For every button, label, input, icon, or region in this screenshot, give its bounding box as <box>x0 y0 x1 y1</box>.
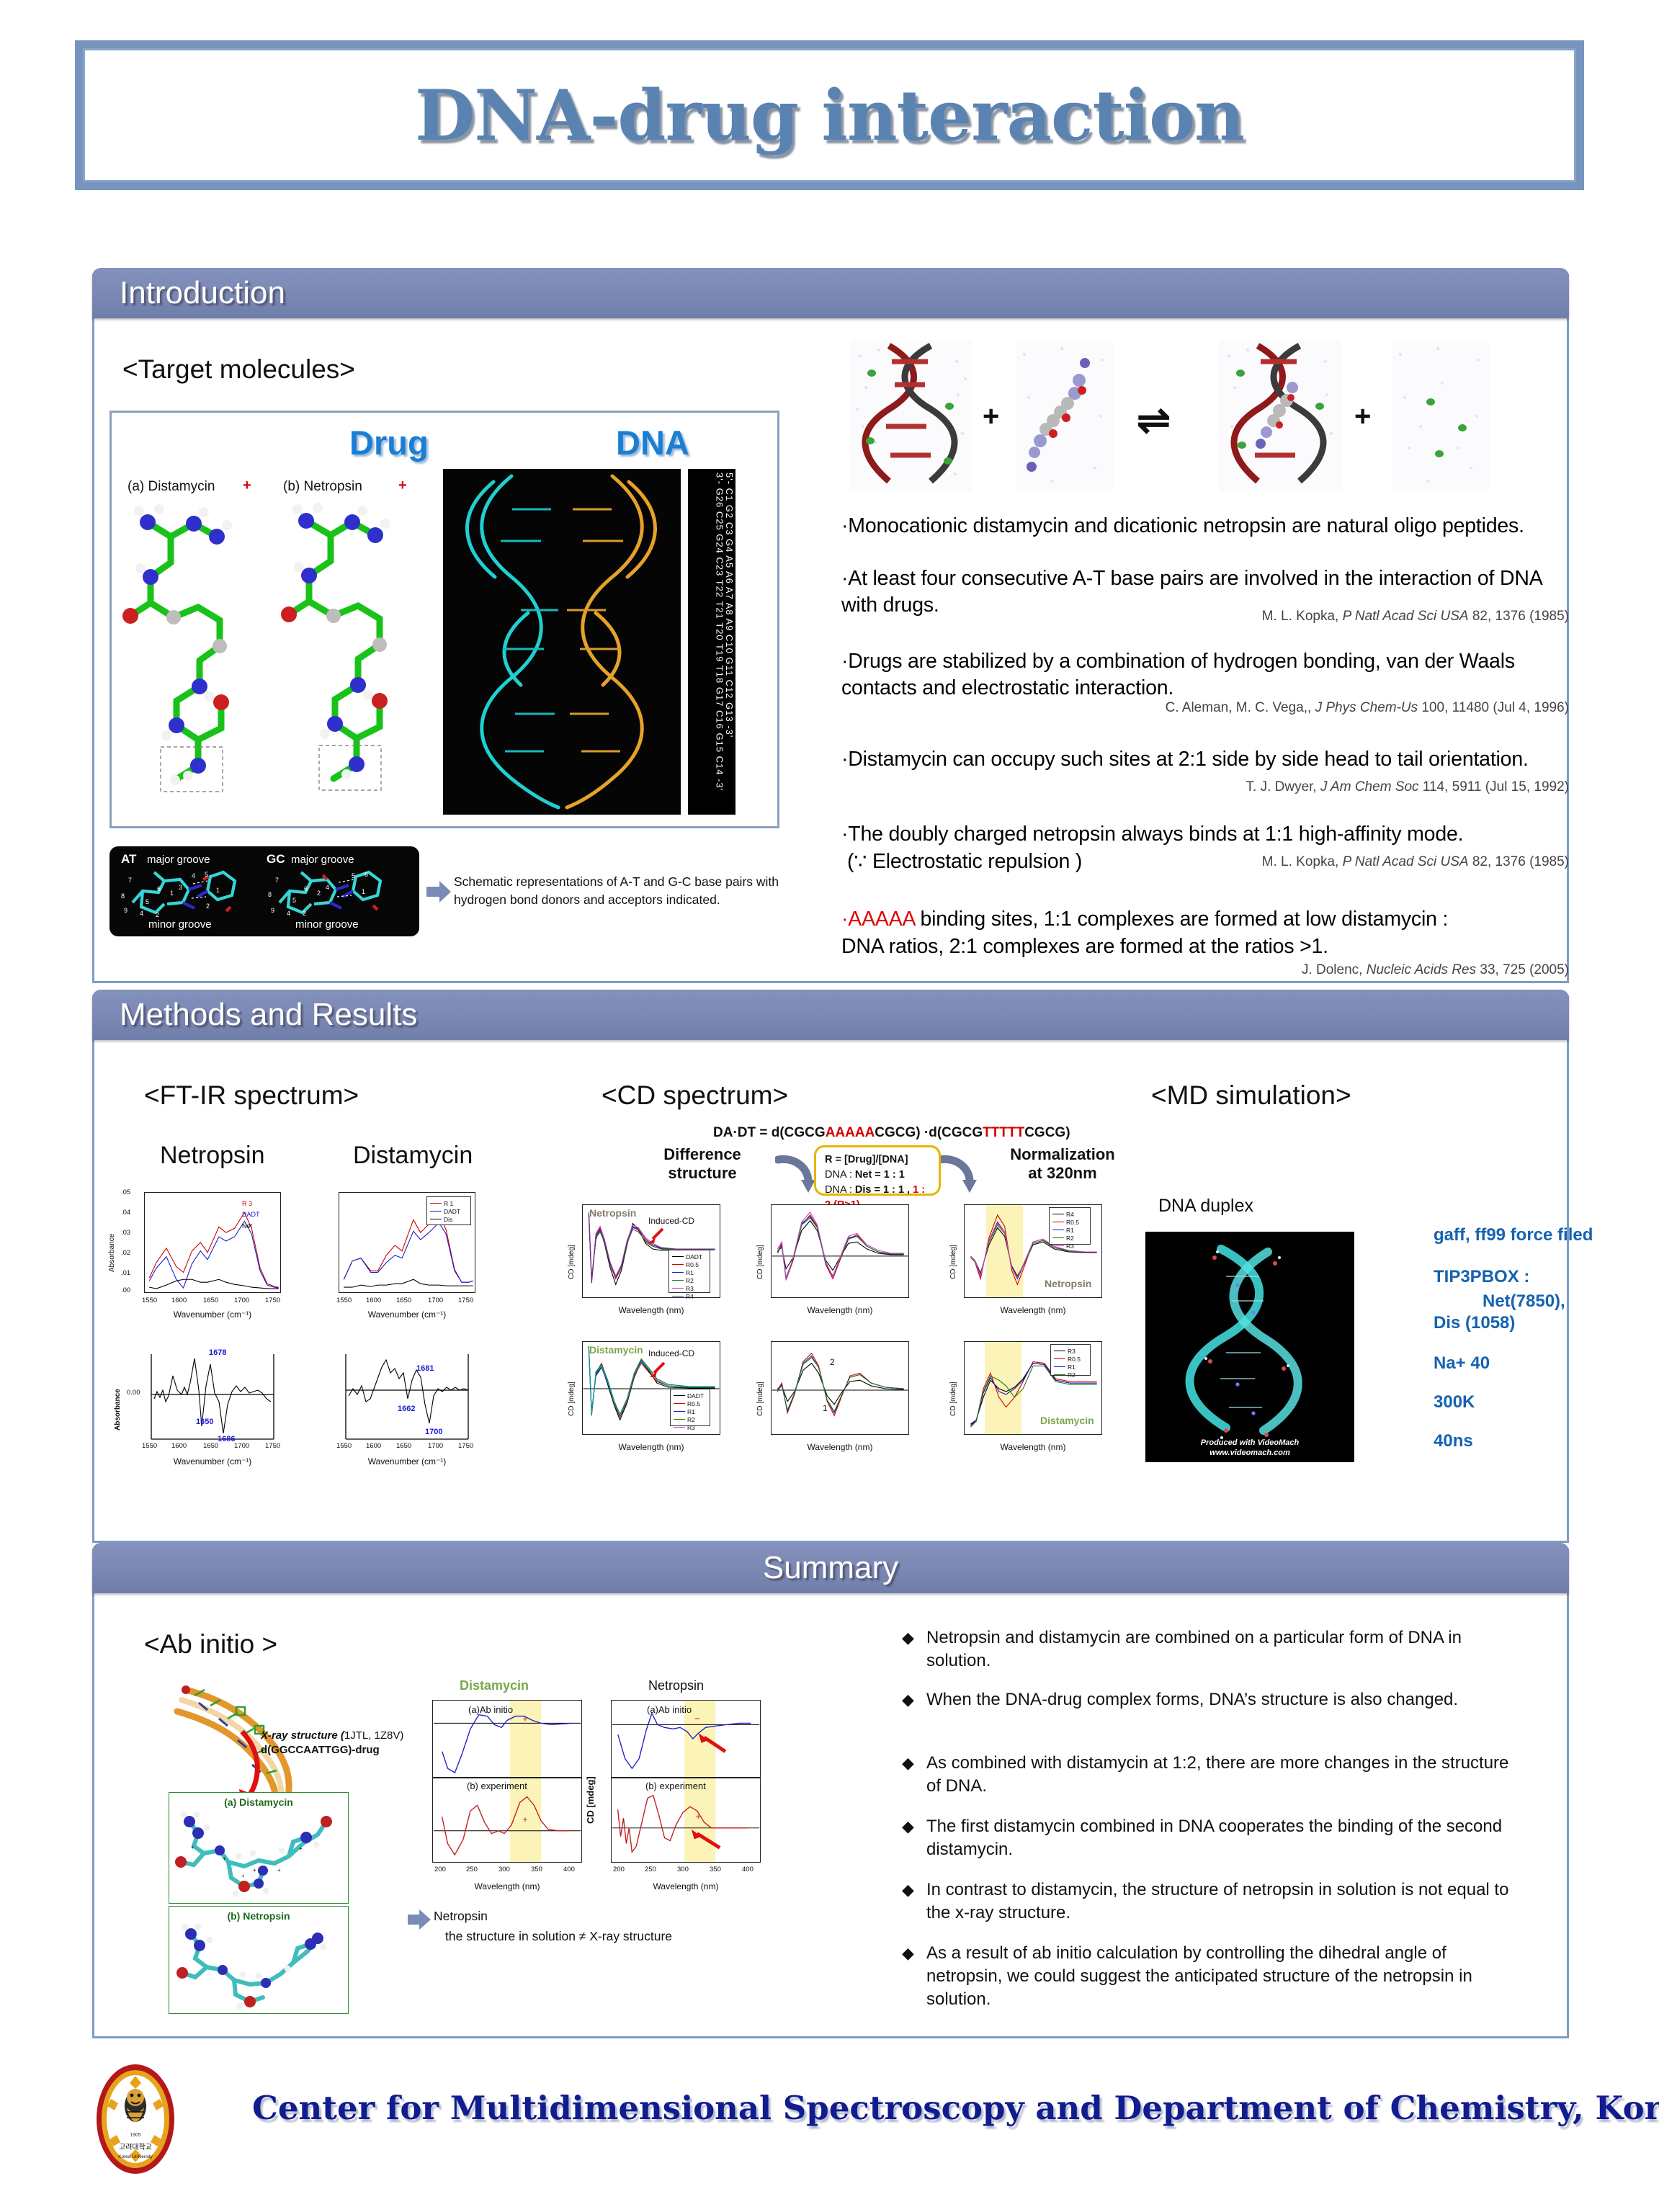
label-minor-groove-at: minor groove <box>148 918 212 931</box>
ftir-net-peak-1650: 1650 <box>196 1418 213 1426</box>
intro-bullet-6b: DNA ratios, 2:1 complexes are formed at … <box>841 933 1568 960</box>
abinitio-dis-xtick-200: 200 <box>434 1866 446 1873</box>
cd-leg-r4: R4 <box>686 1293 694 1300</box>
ftir-net-peak-1678: 1678 <box>209 1348 226 1357</box>
svg-text:6: 6 <box>365 871 368 878</box>
base-pair-caption: Schematic representations of A-T and G-C… <box>454 873 785 910</box>
md-param-tip3pbox: TIP3PBOX : <box>1434 1266 1529 1288</box>
rbox-line1: R = [Drug]/[DNA] <box>825 1152 930 1168</box>
ftir-net-xtick-1550: 1550 <box>142 1297 157 1304</box>
ftir-net-ytick-04: .04 <box>121 1209 130 1217</box>
md-param-forcefield: gaff, ff99 force filed <box>1434 1224 1593 1246</box>
cd-distamycin-legend: DADT R0.5 R1 R2 R3 <box>670 1389 710 1426</box>
formula-pre: DA·DT = d(CGCG <box>713 1125 826 1140</box>
product-complex-image <box>1219 340 1341 491</box>
ftir-net-diff-xtick-1750: 1750 <box>265 1442 280 1450</box>
ref-journal-6: Nucleic Acids Res <box>1367 962 1476 977</box>
svg-text:5: 5 <box>146 898 149 905</box>
summary-bullet-6-text: As a result of ab initio calculation by … <box>926 1943 1472 2009</box>
label-ftir-netropsin: Netropsin <box>160 1142 265 1170</box>
abinitio-net-xtick-300: 300 <box>677 1866 689 1873</box>
red-arrow-icon-1 <box>647 1227 666 1245</box>
svg-text:+: + <box>523 1714 528 1724</box>
abinitio-ylabel: CD [mdeg] <box>585 1745 596 1824</box>
ftir-dis-legend-r1: R 1 <box>444 1200 453 1207</box>
poster-title-inner: DNA-drug interaction <box>83 48 1576 182</box>
ftir-net-legend-dadt: DADT <box>242 1209 260 1220</box>
svg-text:1: 1 <box>216 887 220 894</box>
summary-bullet-3: ◆ As combined with distamycin at 1:2, th… <box>926 1752 1524 1798</box>
ftir-dis-diff-xtick-1750: 1750 <box>458 1442 473 1450</box>
rbox-line2: DNA : Net = 1 : 1 <box>825 1168 930 1183</box>
footer-affiliation: Center for Multidimensional Spectroscopy… <box>252 2089 1549 2127</box>
chart-ftir-netropsin-diff <box>144 1354 281 1451</box>
ftir-net-diff-zero: 0.00 <box>127 1389 140 1397</box>
ftir-net-diff-xtick-1550: 1550 <box>142 1442 157 1450</box>
legend-swatch-dadt-d <box>674 1395 685 1396</box>
ftir-dis-peak-1662: 1662 <box>398 1405 415 1413</box>
ftir-dis-diff-xtick-1650: 1650 <box>396 1442 411 1450</box>
ref-rest-6: 33, 725 (2005) <box>1476 962 1569 977</box>
ftir-net-ylabel: Absorbance <box>108 1214 116 1272</box>
ftir-net-peak-1686: 1686 <box>218 1435 235 1443</box>
md-simulation-render: Produced with VideoMach www.videomach.co… <box>1145 1232 1354 1462</box>
cd-leg-r3: R3 <box>686 1285 694 1292</box>
equilibrium-arrow-icon: ⇌ <box>1137 396 1171 444</box>
intro-ref-2: M. L. Kopka, P Natl Acad Sci USA 82, 137… <box>1174 609 1569 624</box>
ref-journal-5: P Natl Acad Sci USA <box>1343 854 1469 869</box>
ref-author-4: T. J. Dwyer, <box>1246 779 1320 794</box>
ftir-net-xlabel: Wavenumber (cm⁻¹) <box>144 1309 281 1320</box>
section-title-introduction: Introduction <box>120 275 285 311</box>
legend-swatch-r3-d <box>674 1427 685 1428</box>
ref-rest-2: 82, 1376 (1985) <box>1469 609 1569 624</box>
cd-normalized-distamycin-legend: R3 R0.5 R1 R2 <box>1050 1344 1091 1376</box>
summary-bullet-6: ◆ As a result of ab initio calculation b… <box>926 1942 1524 2011</box>
ftir-dis-xtick-1650: 1650 <box>396 1297 411 1304</box>
cd-leg-r1: R1 <box>686 1269 694 1276</box>
formula-aaaaa: AAAAA <box>826 1125 875 1140</box>
svg-text:+: + <box>523 1815 528 1824</box>
cd-legd-r3: R3 <box>687 1424 695 1431</box>
svg-text:+: + <box>696 1812 701 1822</box>
xray-sequence: d(GGCCAATTGG)-drug <box>261 1744 380 1756</box>
subheading-cd: <CD spectrum> <box>602 1080 788 1111</box>
section-title-summary: Summary <box>763 1550 898 1586</box>
abinitio-dis-xtick-300: 300 <box>498 1866 510 1873</box>
label-major-groove-at: major groove <box>147 854 210 866</box>
reactant-drug-image <box>1016 340 1113 491</box>
cd-induced-label-2: Induced-CD <box>648 1348 694 1358</box>
legend-swatch-r1-nd <box>1054 1366 1065 1367</box>
label-drug: Drug <box>349 423 429 462</box>
ref-author-3: C. Aleman, M. C. Vega,, <box>1166 700 1315 715</box>
summary-bullet-4-text: The first distamycin combined in DNA coo… <box>926 1817 1502 1859</box>
curved-arrow-right-icon <box>936 1151 978 1194</box>
md-param-time: 40ns <box>1434 1430 1473 1452</box>
xray-title-rest: 1JTL, 1Z8V) <box>344 1729 404 1742</box>
poster-title-frame: DNA-drug interaction <box>75 40 1584 190</box>
ftir-dis-xtick-1550: 1550 <box>336 1297 352 1304</box>
legend-swatch-r4 <box>672 1296 684 1297</box>
cd-net-xlabel: Wavelength (nm) <box>582 1305 720 1315</box>
svg-text:2: 2 <box>303 910 306 917</box>
ftir-net-diff-ylabel: Absorbance <box>114 1369 122 1430</box>
cd-netropsin-legend: DADT R0.5 R1 R2 R3 R4 <box>668 1250 710 1293</box>
intro-bullet-5: ·The doubly charged netropsin always bin… <box>841 821 1568 848</box>
svg-text:1905: 1905 <box>130 2133 141 2138</box>
abinitio-distamycin-label: (a) Distamycin <box>169 1796 348 1808</box>
base-pair-molecules: 789 542 613 4512 789 542 624 561 <box>117 865 412 920</box>
cd-legb-r4: R4 <box>1066 1211 1074 1218</box>
svg-text:1: 1 <box>170 890 174 897</box>
abinitio-netropsin-label: (b) Netropsin <box>169 1910 348 1922</box>
abinitio-dis-xlabel: Wavelength (nm) <box>432 1881 582 1891</box>
cd-legc-r1: R1 <box>1068 1364 1076 1371</box>
svg-text:3: 3 <box>179 884 182 891</box>
ftir-net-xtick-1750: 1750 <box>265 1297 280 1304</box>
charge-distamycin: + <box>243 478 251 494</box>
legend-swatch-r3 <box>672 1288 684 1289</box>
legend-swatch-r05-d <box>674 1403 685 1404</box>
dna-sequence-bottom: 3'- G26 C25 G24 C23 T22 T21 T20 T19 T18 … <box>715 473 725 791</box>
intro-bullet-1: ·Monocationic distamycin and dicationic … <box>841 513 1568 539</box>
ref-rest-3: 100, 11480 (Jul 4, 1996) <box>1418 700 1569 715</box>
summary-bullet-1-text: Netropsin and distamycin are combined on… <box>926 1628 1462 1670</box>
svg-text:2: 2 <box>156 911 159 918</box>
arrow-right-icon <box>426 880 451 903</box>
ref-author-6: J. Dolenc, <box>1302 962 1367 977</box>
dna-sequence-strip: 5'- C1 G2 C3 G4 A5 A6 A7 A8 A9 C10 G11 C… <box>688 469 735 815</box>
cd-induced-label-1: Induced-CD <box>648 1216 694 1226</box>
xray-title-italic: X-ray structure ( <box>261 1729 344 1742</box>
section-title-methods: Methods and Results <box>120 997 417 1033</box>
cd-legd-r1: R1 <box>687 1408 695 1415</box>
legend-swatch-r3-n <box>1052 1245 1064 1246</box>
chart-ftir-distamycin-diff <box>339 1354 475 1451</box>
svg-text:6: 6 <box>157 885 161 892</box>
abinitio-panel-b-label-dis: (b) experiment <box>467 1781 527 1791</box>
abinitio-note-line2: the structure in solution ≠ X-ray struct… <box>445 1927 672 1945</box>
cd-legd-dadt: DADT <box>687 1392 704 1400</box>
cd-flow-left-label: Difference structure <box>634 1145 771 1183</box>
formula-post: CGCG) <box>1024 1125 1070 1140</box>
abinitio-net-xtick-200: 200 <box>613 1866 625 1873</box>
cd-mark-2: 2 <box>830 1357 835 1367</box>
rbox-l2-bold: Net <box>855 1169 872 1181</box>
svg-text:5: 5 <box>352 872 355 879</box>
ftir-net-ytick-02: .02 <box>121 1249 130 1257</box>
cd-normalized-netropsin-legend: R4 R0.5 R1 R2 R3 <box>1049 1207 1091 1245</box>
svg-text:4: 4 <box>287 910 290 917</box>
ftir-net-xtick-1700: 1700 <box>234 1297 249 1304</box>
cd-legc-r3: R3 <box>1068 1348 1076 1355</box>
formula-mid: CGCG) ·d(CGCG <box>875 1125 983 1140</box>
label-dna: DNA <box>616 423 689 462</box>
md-param-dis: Dis (1058) <box>1434 1312 1515 1334</box>
legend-swatch-r05 <box>672 1264 684 1265</box>
rbox-l2-pre: DNA : <box>825 1169 855 1181</box>
summary-bullet-3-text: As combined with distamycin at 1:2, ther… <box>926 1753 1508 1796</box>
arrow-right-icon-2 <box>408 1909 431 1930</box>
korea-university-logo: 1905 고려대학교 Korea University <box>92 2061 179 2177</box>
svg-text:−: − <box>694 1713 700 1724</box>
rbox-l3-pre: DNA : <box>825 1184 855 1196</box>
subheading-md: <MD simulation> <box>1151 1080 1351 1111</box>
intro-bullet-6-text: binding sites, 1:1 complexes are formed … <box>915 908 1448 931</box>
svg-text:+: + <box>299 1845 303 1852</box>
ftir-dis-legend-dis: Dis <box>444 1216 452 1223</box>
ftir-dis-xtick-1600: 1600 <box>366 1297 381 1304</box>
cd-sequence-formula: DA·DT = d(CGCGAAAAACGCG) ·d(CGCGTTTTTCGC… <box>713 1125 1070 1141</box>
summary-bullet-5: ◆ In contrast to distamycin, the structu… <box>926 1879 1524 1925</box>
svg-text:5: 5 <box>292 897 296 904</box>
ftir-dis-peak-1681: 1681 <box>416 1364 434 1373</box>
bullet-marker-4: ◆ <box>902 1816 914 1837</box>
subheading-abinitio: <Ab initio > <box>144 1629 277 1660</box>
label-ftir-distamycin: Distamycin <box>353 1142 473 1170</box>
md-param-net: Net(7850), <box>1483 1291 1565 1312</box>
bullet-marker-1: ◆ <box>902 1627 914 1648</box>
ftir-dis-diff-xtick-1700: 1700 <box>428 1442 443 1450</box>
rbox-l2-post: = 1 : 1 <box>872 1169 905 1181</box>
xray-structure-caption: X-ray structure (1JTL, 1Z8V) d(GGCCAATTG… <box>261 1729 426 1758</box>
ref-author-5: M. L. Kopka, <box>1262 854 1343 869</box>
cd-dismid-xlabel: Wavelength (nm) <box>771 1442 909 1452</box>
abinitio-dis-xtick-250: 250 <box>466 1866 478 1873</box>
svg-text:2: 2 <box>206 903 210 910</box>
rbox-l3-bold: Dis <box>855 1184 872 1196</box>
cd-panel-label-distamycin-norm: Distamycin <box>1040 1415 1094 1426</box>
cd-norm-xlabel: Wavelength (nm) <box>964 1305 1102 1315</box>
legend-swatch-r1 <box>430 1203 442 1204</box>
cd-mid-xlabel: Wavelength (nm) <box>771 1305 909 1315</box>
page-title: DNA-drug interaction <box>415 75 1244 156</box>
cd-dis-xlabel: Wavelength (nm) <box>582 1442 720 1452</box>
svg-text:4: 4 <box>192 872 195 879</box>
cd-mark-1: 1 <box>823 1403 828 1413</box>
summary-bullet-5-text: In contrast to distamycin, the structure… <box>926 1880 1508 1922</box>
summary-bullet-2-text: When the DNA-drug complex forms, DNA’s s… <box>926 1690 1458 1709</box>
label-major-groove-gc: major groove <box>291 854 354 866</box>
abinitio-netropsin-box: (b) Netropsin <box>169 1906 349 2014</box>
md-param-na: Na+ 40 <box>1434 1353 1490 1374</box>
cd-leg-r05: R0.5 <box>686 1261 699 1268</box>
bullet-marker-3: ◆ <box>902 1752 914 1773</box>
legend-swatch-r2-n <box>1052 1237 1064 1238</box>
cd-legd-r05: R0.5 <box>687 1400 700 1407</box>
svg-text:8: 8 <box>268 891 272 898</box>
legend-swatch-r2 <box>672 1280 684 1281</box>
svg-text:+: + <box>191 1844 194 1850</box>
plus-sign-1: + <box>983 400 999 433</box>
distamycin-structure-image <box>119 493 274 803</box>
cd-mid-ylabel: CD [mdeg] <box>756 1224 764 1279</box>
svg-text:9: 9 <box>124 907 128 914</box>
ftir-net-diff-xtick-1600: 1600 <box>171 1442 187 1450</box>
cd-dis-ylabel: CD [mdeg] <box>568 1361 576 1416</box>
cd-legb-r2: R2 <box>1066 1235 1074 1242</box>
intro-bullet-3: ·Drugs are stabilized by a combination o… <box>841 648 1568 702</box>
subheading-ftir: <FT-IR spectrum> <box>144 1080 359 1111</box>
formula-ttttt: TTTTT <box>983 1125 1024 1140</box>
ftir-dis-legend: R 1 DADT Dis <box>426 1196 471 1225</box>
rbox-l3-post: = 1 : 1 , <box>871 1184 913 1196</box>
ftir-net-diff-xtick-1700: 1700 <box>234 1442 249 1450</box>
cd-panel-label-netropsin: Netropsin <box>589 1207 636 1219</box>
chart-cd-distamycin-mid <box>771 1341 909 1435</box>
ftir-dis-peak-1700: 1700 <box>425 1428 442 1436</box>
abinitio-distamycin-model: +++ +++ <box>169 1809 349 1902</box>
svg-text:6: 6 <box>304 885 308 892</box>
cd-legd-r2: R2 <box>687 1416 695 1423</box>
cd-flow-right-label: Normalization at 320nm <box>980 1145 1145 1183</box>
svg-text:+: + <box>253 1867 256 1873</box>
ftir-net-ytick-01: .01 <box>121 1269 130 1277</box>
cd-dismid-ylabel: CD [mdeg] <box>756 1361 764 1416</box>
bullet-marker-6: ◆ <box>902 1943 914 1964</box>
cd-legc-r05: R0.5 <box>1068 1356 1081 1363</box>
subheading-target-molecules: <Target molecules> <box>122 354 355 385</box>
bullet-marker-2: ◆ <box>902 1689 914 1710</box>
svg-text:1: 1 <box>362 888 365 895</box>
intro-bullet-6: ·AAAAA binding sites, 1:1 complexes are … <box>841 906 1568 933</box>
legend-swatch-dadt <box>430 1211 442 1212</box>
product-solvent-image <box>1392 340 1489 491</box>
bullet-marker-5: ◆ <box>902 1879 914 1900</box>
svg-text:8: 8 <box>121 892 125 900</box>
svg-text:4: 4 <box>326 884 329 891</box>
svg-text:2: 2 <box>317 890 321 897</box>
ftir-dis-xlabel: Wavenumber (cm⁻¹) <box>339 1309 475 1320</box>
section-header-introduction: Introduction <box>92 268 1569 318</box>
label-netropsin: (b) Netropsin <box>283 479 362 495</box>
reaction-scheme: + ⇌ <box>850 340 1570 495</box>
abinitio-net-xtick-400: 400 <box>742 1866 754 1873</box>
ftir-dis-diff-xlabel: Wavenumber (cm⁻¹) <box>339 1456 475 1467</box>
plus-sign-2: + <box>1354 400 1371 433</box>
section-header-methods: Methods and Results <box>92 990 1569 1040</box>
base-pair-schematic: AT major groove GC major groove minor gr… <box>109 846 419 936</box>
ftir-dis-legend-dadt: DADT <box>444 1208 460 1215</box>
svg-text:4: 4 <box>140 910 143 917</box>
legend-swatch-r1-d <box>674 1411 685 1412</box>
summary-bullet-1: ◆ Netropsin and distamycin are combined … <box>926 1626 1524 1673</box>
reactant-dna-image <box>850 340 972 491</box>
intro-ref-5: M. L. Kopka, P Natl Acad Sci USA 82, 137… <box>1153 854 1569 870</box>
label-minor-groove-gc: minor groove <box>295 918 359 931</box>
ftir-dis-xtick-1700: 1700 <box>428 1297 443 1304</box>
label-distamycin: (a) Distamycin <box>128 479 215 495</box>
abinitio-net-xtick-250: 250 <box>645 1866 656 1873</box>
legend-swatch-r3-nd <box>1054 1351 1065 1351</box>
cd-legc-r2: R2 <box>1068 1371 1076 1379</box>
svg-text:7: 7 <box>275 877 279 884</box>
ref-journal-2: P Natl Acad Sci USA <box>1343 609 1469 624</box>
legend-swatch-r2-nd <box>1054 1374 1065 1375</box>
summary-bullet-4: ◆ The first distamycin combined in DNA c… <box>926 1815 1524 1861</box>
ftir-net-diff-xtick-1650: 1650 <box>203 1442 218 1450</box>
abinitio-plot-label-distamycin: Distamycin <box>460 1678 529 1693</box>
ftir-net-xtick-1600: 1600 <box>171 1297 187 1304</box>
dna-duplex-render <box>443 469 681 815</box>
abinitio-distamycin-box: (a) Distamycin +++ +++ <box>169 1792 349 1904</box>
svg-text:www.videomach.com: www.videomach.com <box>1209 1448 1290 1457</box>
cd-leg-dadt: DADT <box>686 1253 702 1261</box>
svg-text:+: + <box>277 1867 281 1873</box>
ref-journal-3: J Phys Chem-Us <box>1315 700 1418 715</box>
cd-legb-r1: R1 <box>1066 1227 1074 1234</box>
intro-ref-3: C. Aleman, M. C. Vega,, J Phys Chem-Us 1… <box>1109 700 1569 716</box>
label-at-pair: AT <box>121 852 136 867</box>
svg-text:고려대학교: 고려대학교 <box>119 2143 152 2151</box>
intro-ref-6: J. Dolenc, Nucleic Acids Res 33, 725 (20… <box>1153 962 1569 978</box>
ref-rest-4: 114, 5911 (Jul 15, 1992) <box>1419 779 1569 794</box>
ftir-net-diff-xlabel: Wavenumber (cm⁻¹) <box>144 1456 281 1467</box>
cd-normdis-xlabel: Wavelength (nm) <box>964 1442 1102 1452</box>
ftir-dis-diff-xtick-1550: 1550 <box>336 1442 352 1450</box>
ftir-net-xtick-1650: 1650 <box>203 1297 218 1304</box>
charge-netropsin: + <box>398 478 407 494</box>
abinitio-netropsin-model <box>169 1922 349 2012</box>
intro-ref-4: T. J. Dwyer, J Am Chem Soc 114, 5911 (Ju… <box>1124 779 1569 795</box>
section-header-summary: Summary <box>92 1543 1569 1593</box>
ftir-net-legend: R 3 DADT Net <box>242 1199 260 1232</box>
abinitio-panel-a-label-net: (a)Ab initio <box>647 1704 692 1715</box>
cd-legb-r05: R0.5 <box>1066 1219 1079 1226</box>
ref-author-2: M. L. Kopka, <box>1262 609 1343 624</box>
svg-text:9: 9 <box>271 907 274 914</box>
ftir-net-ytick-03: .03 <box>121 1229 130 1237</box>
svg-text:Korea University: Korea University <box>118 2154 153 2159</box>
legend-swatch-dis <box>430 1219 442 1219</box>
netropsin-structure-image <box>274 493 429 803</box>
cd-ratio-definition-box: R = [Drug]/[DNA] DNA : Net = 1 : 1 DNA :… <box>814 1145 941 1196</box>
label-md-dna-duplex: DNA duplex <box>1158 1196 1253 1217</box>
red-arrow-icon-2 <box>648 1361 667 1379</box>
legend-swatch-r1-n <box>1052 1230 1064 1230</box>
summary-bullet-2: ◆ When the DNA-drug complex forms, DNA’s… <box>926 1688 1524 1711</box>
md-param-temp: 300K <box>1434 1392 1475 1413</box>
cd-leg-r2: R2 <box>686 1277 694 1284</box>
ftir-dis-xtick-1750: 1750 <box>458 1297 473 1304</box>
target-molecules-box: Drug DNA (a) Distamycin + (b) Netropsin … <box>109 411 779 828</box>
svg-text:Produced with VideoMach: Produced with VideoMach <box>1201 1438 1300 1447</box>
cd-panel-label-netropsin-norm: Netropsin <box>1045 1278 1091 1289</box>
legend-swatch-r4-n <box>1052 1214 1064 1214</box>
abinitio-dis-xtick-350: 350 <box>531 1866 542 1873</box>
highlight-aaaaa: ·AAAAA <box>841 908 915 931</box>
abinitio-net-xlabel: Wavelength (nm) <box>611 1881 761 1891</box>
cd-normdis-ylabel: CD [mdeg] <box>949 1361 957 1416</box>
cd-panel-label-distamycin: Distamycin <box>589 1344 643 1356</box>
legend-swatch-r1 <box>672 1272 684 1273</box>
ftir-dis-diff-xtick-1600: 1600 <box>366 1442 381 1450</box>
ftir-net-ytick-00: .00 <box>121 1286 130 1294</box>
cd-norm-ylabel: CD [mdeg] <box>949 1224 957 1279</box>
legend-swatch-dadt-cd <box>672 1256 684 1257</box>
legend-swatch-r05-n <box>1052 1222 1064 1222</box>
chart-cd-netropsin-mid <box>771 1204 909 1298</box>
abinitio-net-xtick-350: 350 <box>710 1866 721 1873</box>
ref-journal-4: J Am Chem Soc <box>1320 779 1419 794</box>
abinitio-panel-a-label-dis: (a)Ab initio <box>468 1704 513 1715</box>
dna-sequence-top: 5'- C1 G2 C3 G4 A5 A6 A7 A8 A9 C10 G11 C… <box>724 473 734 738</box>
svg-text:5: 5 <box>205 871 208 878</box>
ftir-net-legend-r3: R 3 <box>242 1199 260 1209</box>
abinitio-dis-xtick-400: 400 <box>563 1866 575 1873</box>
abinitio-panel-b-label-net: (b) experiment <box>645 1781 706 1791</box>
